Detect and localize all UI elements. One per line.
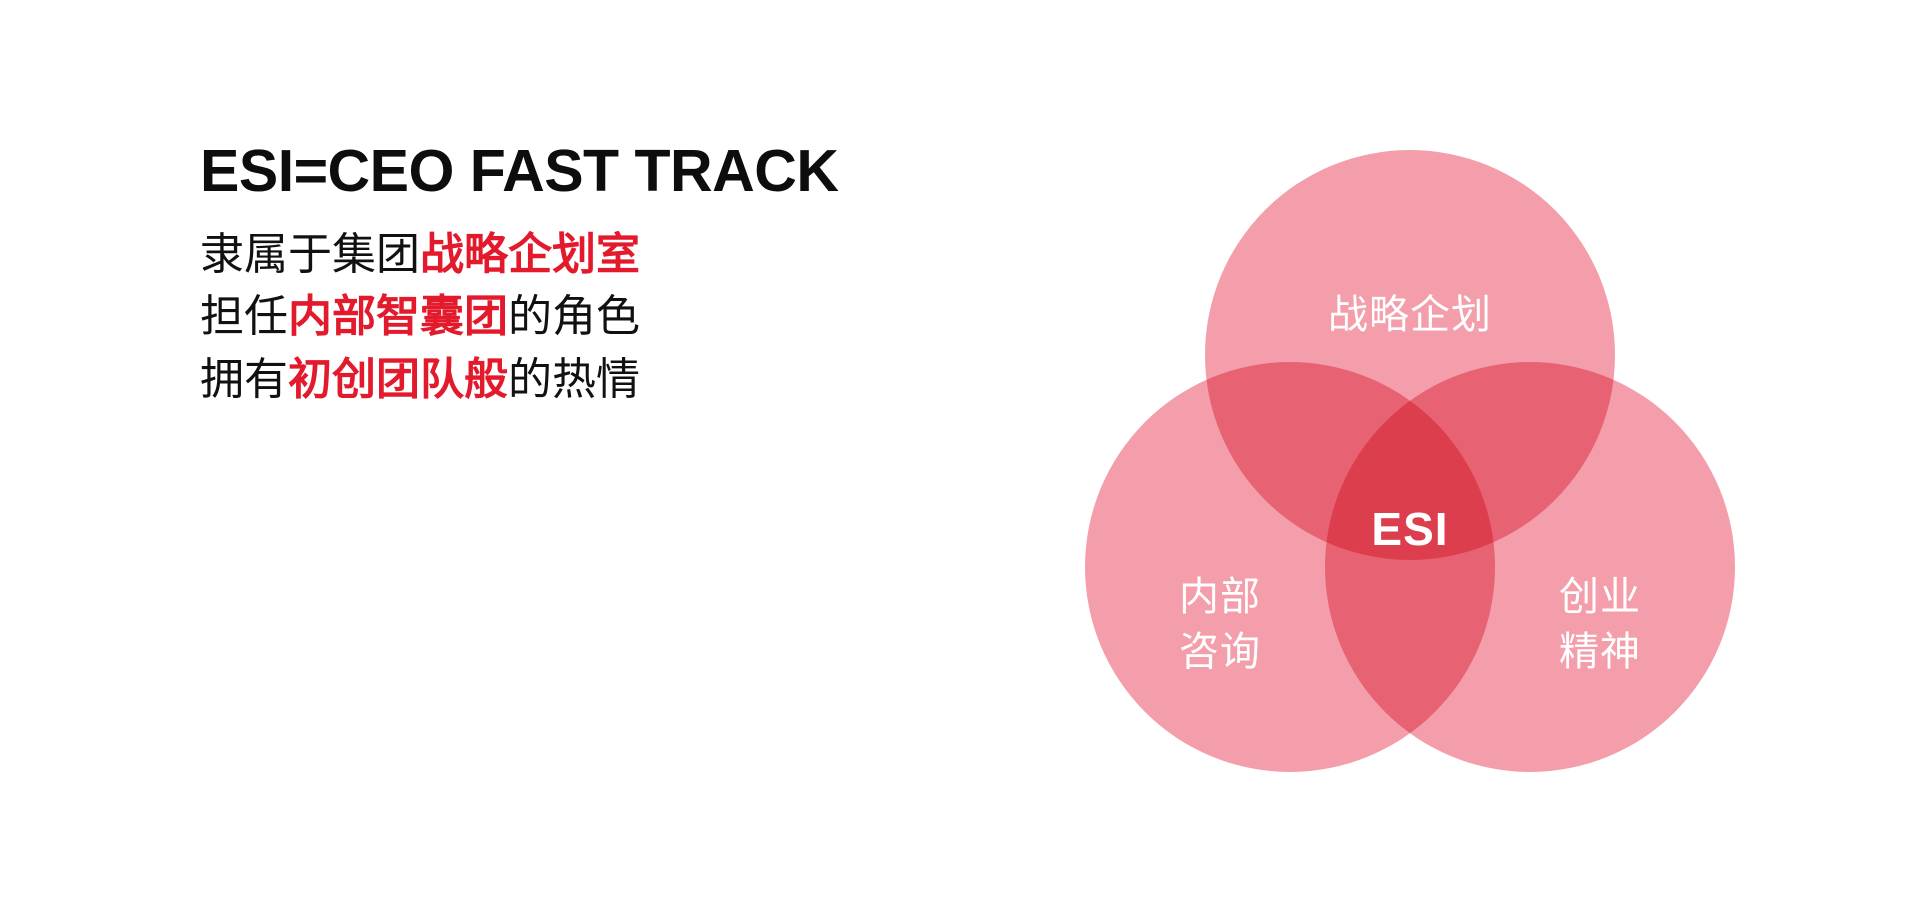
body-line-3-plain-1: 拥有 (200, 354, 288, 405)
venn-circle-startup (1325, 362, 1735, 772)
body-line-1: 隶属于集团战略企划室 (200, 224, 1020, 286)
body-line-3: 拥有初创团队般的热情 (200, 349, 1020, 411)
body-line-3-highlight: 初创团队般 (288, 354, 508, 405)
body-line-2: 担任内部智囊团的角色 (200, 286, 1020, 348)
body-line-2-highlight: 内部智囊团 (288, 291, 508, 342)
body-line-2-plain-1: 担任 (200, 291, 288, 342)
body-line-1-highlight: 战略企划室 (420, 229, 640, 280)
body-line-2-plain-2: 的角色 (508, 291, 640, 342)
body-lines: 隶属于集团战略企划室 担任内部智囊团的角色 拥有初创团队般的热情 (200, 224, 1020, 411)
body-line-3-plain-2: 的热情 (508, 354, 640, 405)
body-line-1-plain-1: 隶属于集团 (200, 229, 420, 280)
slide-root: ESI=CEO FAST TRACK 隶属于集团战略企划室 担任内部智囊团的角色… (0, 0, 1920, 900)
page-title: ESI=CEO FAST TRACK (200, 140, 1020, 204)
venn-circles-stage (1030, 130, 1790, 820)
text-block: ESI=CEO FAST TRACK 隶属于集团战略企划室 担任内部智囊团的角色… (200, 140, 1020, 411)
venn-diagram: 战略企划 内部 咨询 创业 精神 ESI (1030, 130, 1790, 820)
